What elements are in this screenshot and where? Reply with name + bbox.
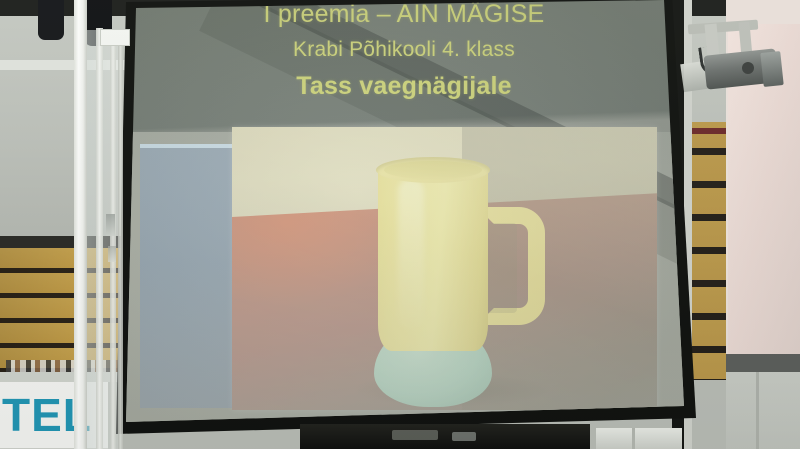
frame-pole-2 bbox=[96, 28, 103, 449]
frame-pole-1 bbox=[74, 0, 87, 449]
under-screen-equipment bbox=[300, 424, 590, 449]
under-screen-equipment-highlight-2 bbox=[452, 432, 476, 441]
right-lower-wall-seam bbox=[756, 372, 759, 449]
frame-fastener-upper bbox=[106, 214, 115, 236]
frame-bracket bbox=[100, 29, 130, 46]
screen-vignette bbox=[112, 0, 696, 442]
frame-fastener-lower bbox=[108, 246, 116, 262]
under-screen-equipment-highlight bbox=[392, 430, 438, 440]
projection-screen: I preemia – AIN MÄGISE Krabi Põhikooli 4… bbox=[112, 0, 696, 442]
under-screen-white-panel bbox=[596, 428, 682, 449]
projection-screen-surface: I preemia – AIN MÄGISE Krabi Põhikooli 4… bbox=[112, 0, 696, 442]
screenshot-scene: TEL I preemia – AIN MÄGISE Krabi Põhikoo… bbox=[0, 0, 800, 449]
spotlight-tilt-knob bbox=[742, 62, 754, 74]
right-lower-wall bbox=[726, 354, 800, 449]
under-screen-white-panel-seam bbox=[632, 428, 635, 449]
frame-pole-4 bbox=[118, 46, 123, 449]
spotlight-lens bbox=[760, 51, 783, 87]
ceiling-drape-left bbox=[38, 0, 64, 40]
